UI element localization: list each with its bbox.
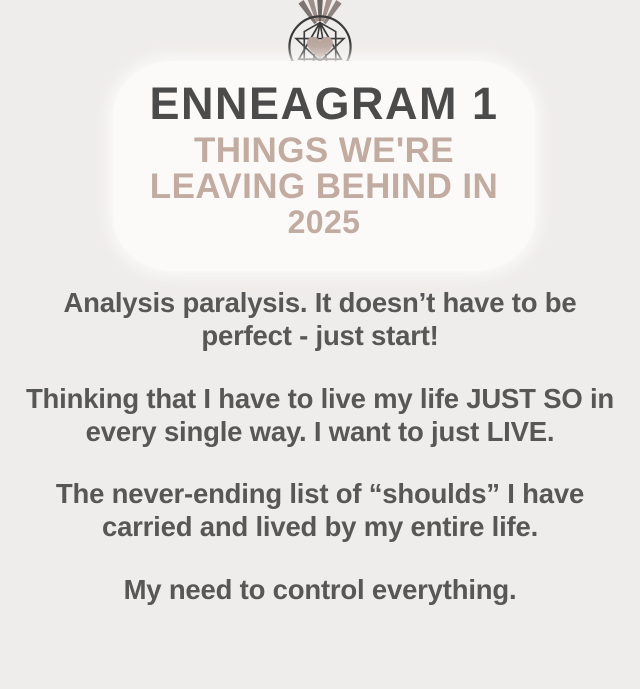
body-paragraph: The never-ending list of “shoulds” I hav… — [16, 477, 624, 544]
body-copy: Analysis paralysis. It doesn’t have to b… — [16, 286, 624, 606]
body-paragraph: My need to control everything. — [16, 573, 624, 606]
body-paragraph: Thinking that I have to live my life JUS… — [16, 382, 624, 449]
subtitle-line-1: THINGS WE'RE — [113, 133, 535, 169]
subtitle-year: 2025 — [113, 206, 535, 239]
headline-text-group: ENNEAGRAM 1 THINGS WE'RE LEAVING BEHIND … — [113, 61, 535, 271]
enneagram-poster: ENNEAGRAM 1 THINGS WE'RE LEAVING BEHIND … — [0, 0, 640, 689]
subtitle-line-2: LEAVING BEHIND IN — [113, 169, 535, 205]
page-subtitle: THINGS WE'RE LEAVING BEHIND IN 2025 — [113, 133, 535, 239]
body-paragraph: Analysis paralysis. It doesn’t have to b… — [16, 286, 624, 353]
page-title: ENNEAGRAM 1 — [149, 81, 498, 127]
